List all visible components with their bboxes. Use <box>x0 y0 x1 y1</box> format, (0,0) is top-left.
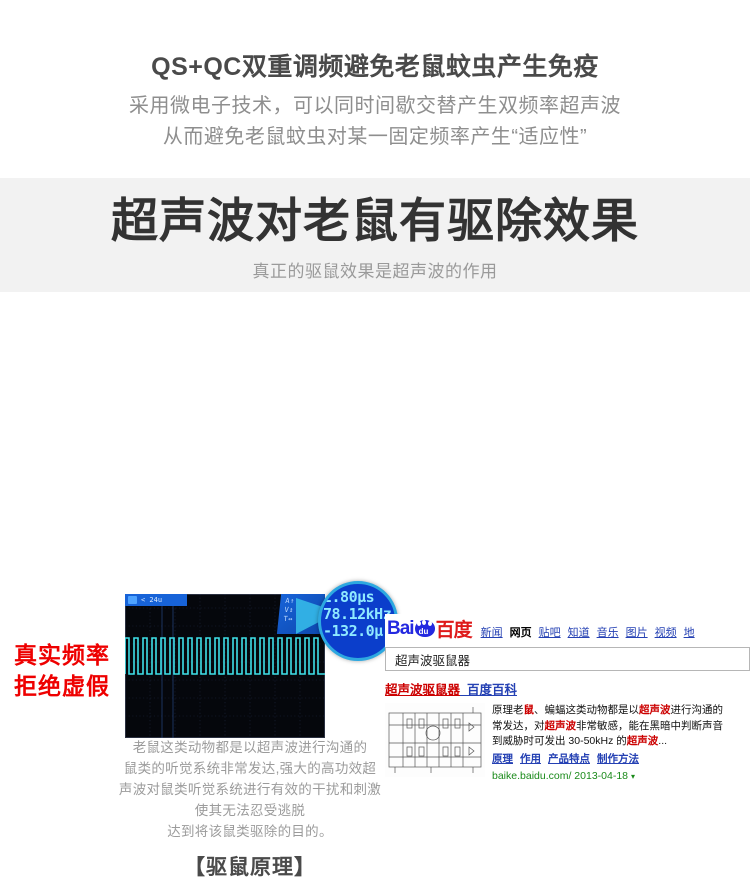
result-title-main: 超声波驱鼠器 <box>385 683 460 697</box>
snippet-l3-num: 30-50kHz <box>568 735 613 747</box>
sublink-howto[interactable]: 制作方法 <box>597 752 639 768</box>
snippet-line-2: 常发达，对超声波非常敏感，能在黑暗中判断声音 <box>492 719 750 735</box>
intro-line-1: 采用微电子技术，可以同时间歇交替产生双频率超声波 <box>0 91 750 122</box>
baidu-nav-maps[interactable]: 地 <box>684 624 695 640</box>
baidu-logo[interactable]: Bai du 百度 <box>387 615 472 642</box>
desc-line-3: 声波对鼠类听觉系统进行有效的干扰和刺激 <box>0 780 500 801</box>
snippet-l3-c: ... <box>658 735 667 747</box>
baidu-paw-icon: du <box>415 620 435 637</box>
desc-line-2: 鼠类的听觉系统非常发达,强大的高功效超 <box>0 759 500 780</box>
baidu-logo-cn: 百度 <box>436 615 472 642</box>
reading-frequency: 78.12kHz <box>321 606 395 623</box>
intro-section: QS+QC双重调频避免老鼠蚊虫产生免疫 采用微电子技术，可以同时间歇交替产生双频… <box>0 0 750 178</box>
snippet-l2-b: 非常敏感，能在黑暗中判断声音 <box>576 720 723 732</box>
snippet-line-1: 原理老鼠、蝙蝠这类动物都是以超声波进行沟通的 <box>492 703 750 719</box>
description-heading: 【驱鼠原理】 <box>0 852 500 884</box>
baidu-nav-music[interactable]: 音乐 <box>597 624 619 640</box>
baidu-nav-images[interactable]: 图片 <box>626 624 648 640</box>
slogan-line-1: 真实频率 <box>14 640 134 671</box>
scope-chip-icon <box>128 596 137 604</box>
desc-line-1: 老鼠这类动物都是以超声波进行沟通的 <box>0 738 500 759</box>
snippet-l2-hl1: 超声波 <box>545 720 577 732</box>
baidu-header: Bai du 百度 新闻 网页 贴吧 知道 音乐 图片 视频 地 <box>385 614 750 642</box>
baidu-nav-video[interactable]: 视频 <box>655 624 677 640</box>
sublink-features[interactable]: 产品特点 <box>548 752 590 768</box>
baidu-nav: 新闻 网页 贴吧 知道 音乐 图片 视频 地 <box>481 624 695 642</box>
slogan-line-2: 拒绝虚假 <box>14 671 134 702</box>
red-slogan: 真实频率 拒绝虚假 <box>14 640 134 702</box>
content-section: 真实频率 拒绝虚假 <box>0 292 750 583</box>
banner-section: 超声波对老鼠有驱除效果 真正的驱鼠效果是超声波的作用 <box>0 178 750 292</box>
oscilloscope-screenshot: < 24u A↑V↕T↔ <box>125 594 325 738</box>
snippet-l3-b: 的 <box>613 735 626 747</box>
scope-status-text: < 24u <box>141 596 162 604</box>
baidu-nav-zhidao[interactable]: 知道 <box>568 624 590 640</box>
sublink-function[interactable]: 作用 <box>520 752 541 768</box>
snippet-l3-a: 到威胁时可发出 <box>492 735 568 747</box>
snippet-l3-hl1: 超声波 <box>627 735 659 747</box>
description-block: 老鼠这类动物都是以超声波进行沟通的 鼠类的听觉系统非常发达,强大的高功效超 声波… <box>0 738 500 884</box>
baidu-search-input[interactable]: 超声波驱鼠器 <box>385 647 750 671</box>
chevron-down-icon[interactable]: ▾ <box>631 772 635 781</box>
product-detail-page: QS+QC双重调频避免老鼠蚊虫产生免疫 采用微电子技术，可以同时间歇交替产生双频… <box>0 0 750 583</box>
desc-line-5: 达到将该鼠类驱除的目的。 <box>0 822 500 843</box>
baidu-logo-bai: Bai <box>387 618 414 640</box>
snippet-line-3: 到威胁时可发出 30-50kHz 的超声波... <box>492 734 750 750</box>
snippet-l1-hl2: 超声波 <box>639 704 671 716</box>
baidu-nav-news[interactable]: 新闻 <box>481 624 503 640</box>
reading-period: 2.80μs <box>321 584 395 606</box>
baidu-nav-web[interactable]: 网页 <box>510 624 532 640</box>
snippet-l1-hl1: 鼠 <box>524 704 535 716</box>
search-result-title[interactable]: 超声波驱鼠器_百度百科 <box>385 683 750 698</box>
scope-status-bar: < 24u <box>125 594 187 606</box>
intro-line-2: 从而避免老鼠蚊虫对某一固定频率产生“适应性” <box>0 122 750 153</box>
snippet-l1-a: 原理老 <box>492 704 524 716</box>
desc-line-4: 使其无法忍受逃脱 <box>0 801 500 822</box>
snippet-l2-a: 常发达，对 <box>492 720 545 732</box>
snippet-l1-b: 、蝙蝠这类动物都是以 <box>534 704 639 716</box>
result-sublinks: 原理 作用 产品特点 制作方法 <box>492 752 750 768</box>
search-result-snippet: 原理老鼠、蝙蝠这类动物都是以超声波进行沟通的 常发达，对超声波非常敏感，能在黑暗… <box>492 703 750 785</box>
banner-title: 超声波对老鼠有驱除效果 <box>0 192 750 251</box>
reading-amplitude: -132.0μ <box>321 623 395 640</box>
baidu-logo-du: du <box>419 627 429 636</box>
intro-title: QS+QC双重调频避免老鼠蚊虫产生免疫 <box>0 52 750 82</box>
result-url-text: baike.baidu.com/ 2013-04-18 <box>492 770 628 782</box>
result-title-site: 百度百科 <box>467 683 517 697</box>
result-url: baike.baidu.com/ 2013-04-18 ▾ <box>492 769 750 785</box>
banner-subtitle: 真正的驱鼠效果是超声波的作用 <box>0 257 750 282</box>
snippet-l1-c: 进行沟通的 <box>671 704 724 716</box>
baidu-nav-tieba[interactable]: 贴吧 <box>539 624 561 640</box>
result-title-sep: _ <box>460 683 467 697</box>
